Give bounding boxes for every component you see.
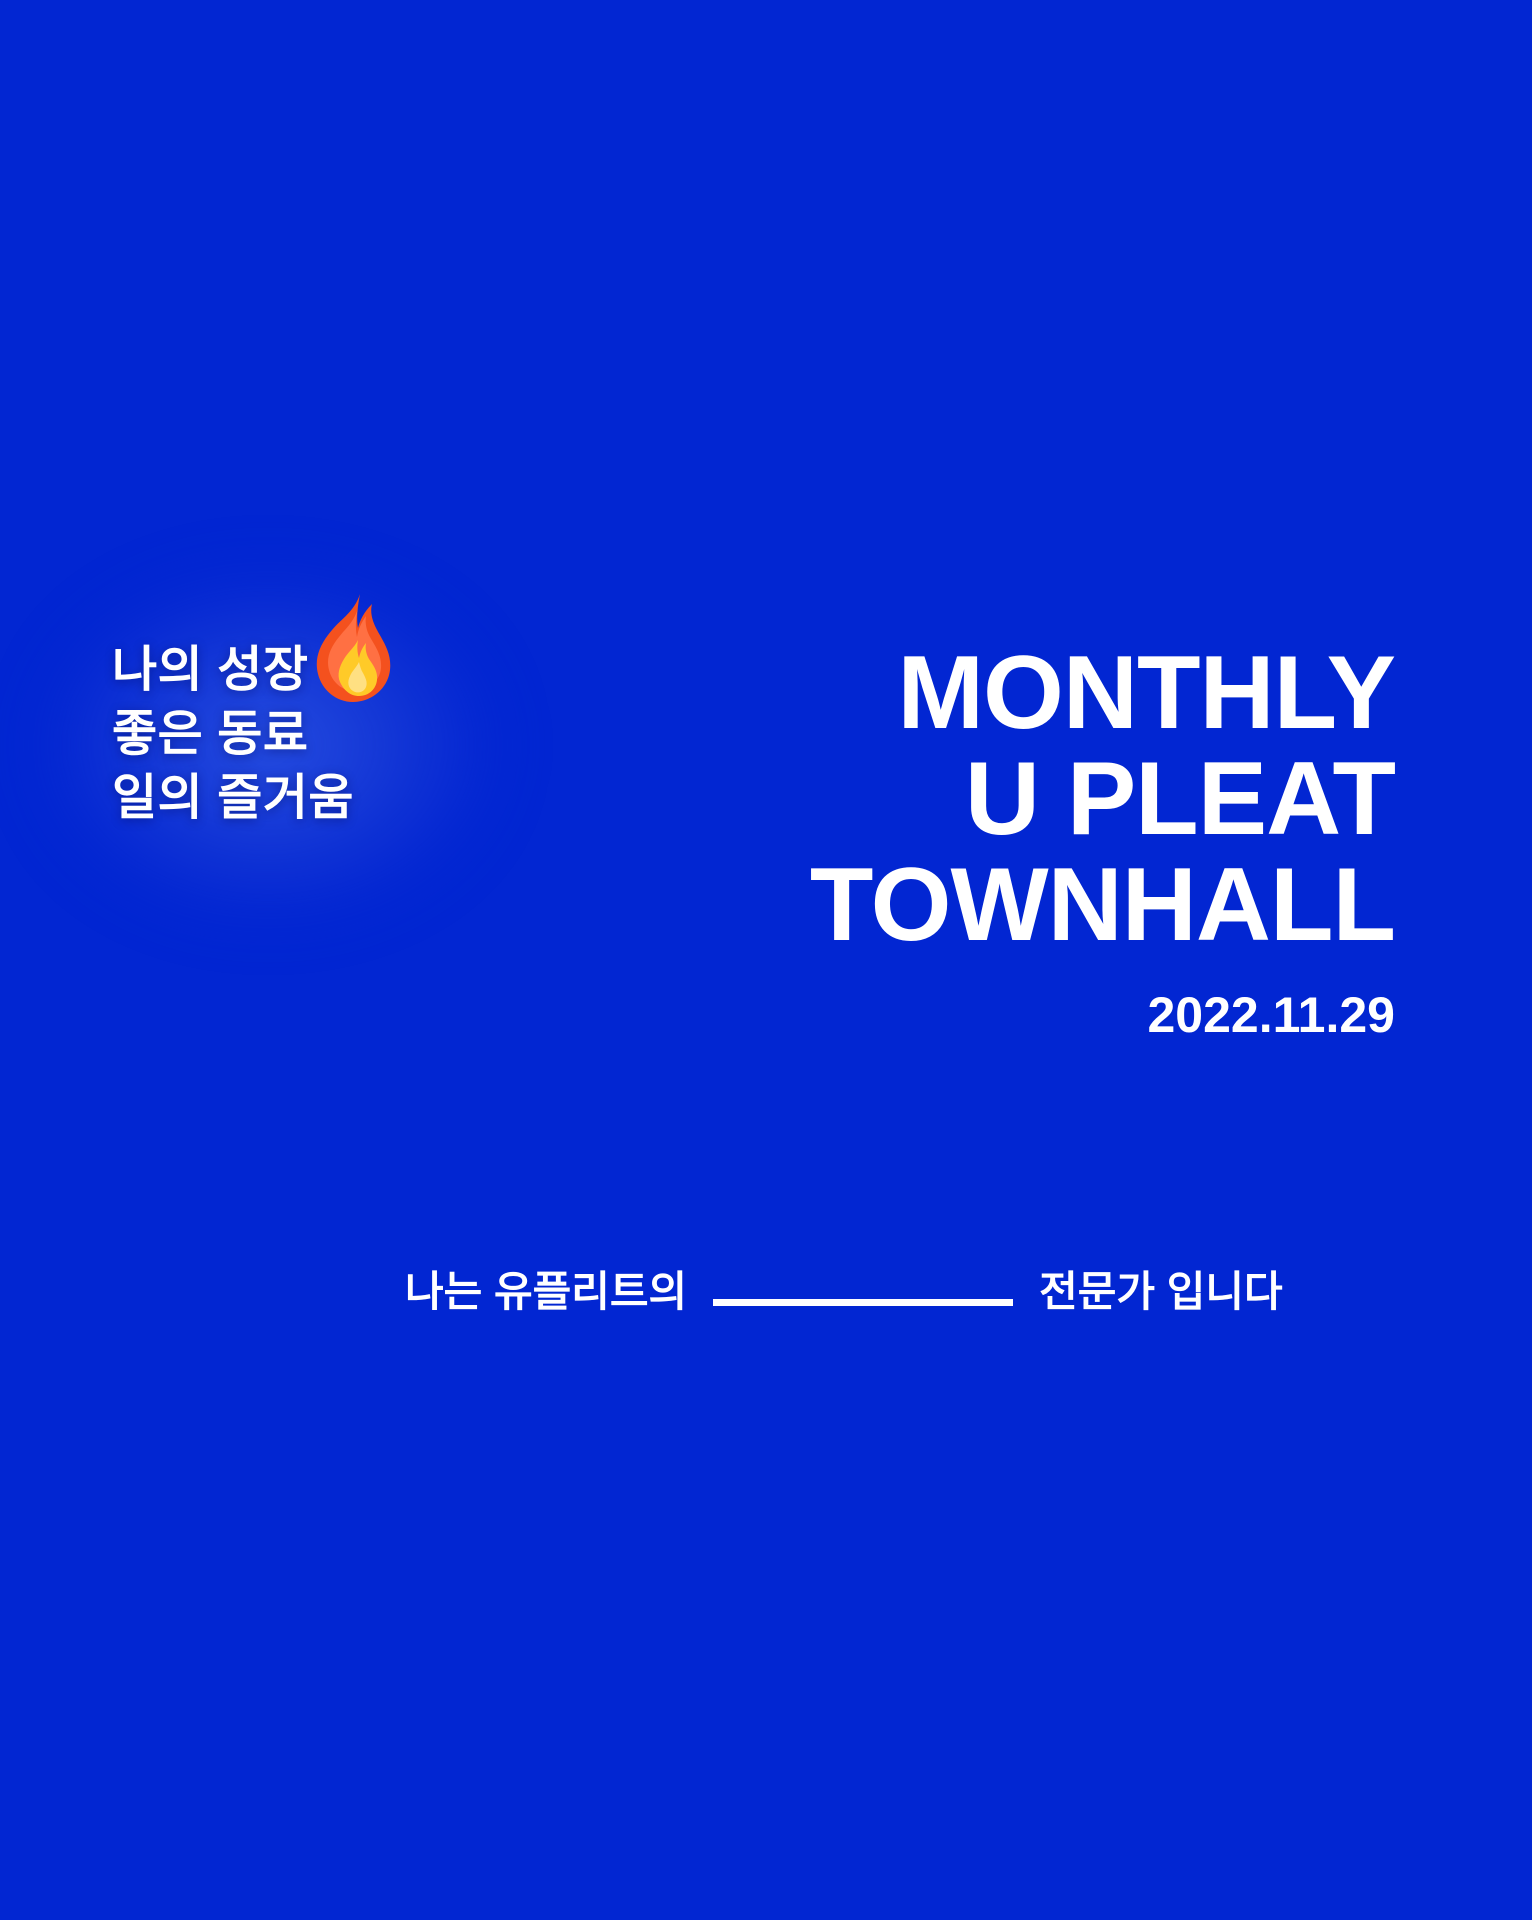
slogan-line-1: 나의 성장 — [112, 638, 354, 702]
title-block: MONTHLY U PLEAT TOWNHALL 2022.11.29 — [810, 640, 1395, 1044]
tagline: 나는 유플리트의 전문가 입니다 — [405, 1264, 1283, 1320]
tagline-prefix: 나는 유플리트의 — [405, 1264, 687, 1320]
slogan-line-3: 일의 즐거움 — [112, 766, 354, 830]
title-line-monthly: MONTHLY — [810, 640, 1395, 746]
tagline-suffix: 전문가 입니다 — [1039, 1264, 1283, 1320]
tagline-blank-underline — [713, 1299, 1013, 1306]
slogan-block: 나의 성장 좋은 동료 일의 즐거움 — [112, 638, 354, 830]
title-line-townhall: TOWNHALL — [810, 852, 1395, 958]
poster-canvas: 나의 성장 좋은 동료 일의 즐거움 MONTHLY U PLEAT TOWNH… — [0, 0, 1532, 1920]
event-date: 2022.11.29 — [810, 986, 1395, 1044]
slogan-line-2: 좋은 동료 — [112, 702, 354, 766]
title-line-upleat: U PLEAT — [810, 746, 1395, 852]
